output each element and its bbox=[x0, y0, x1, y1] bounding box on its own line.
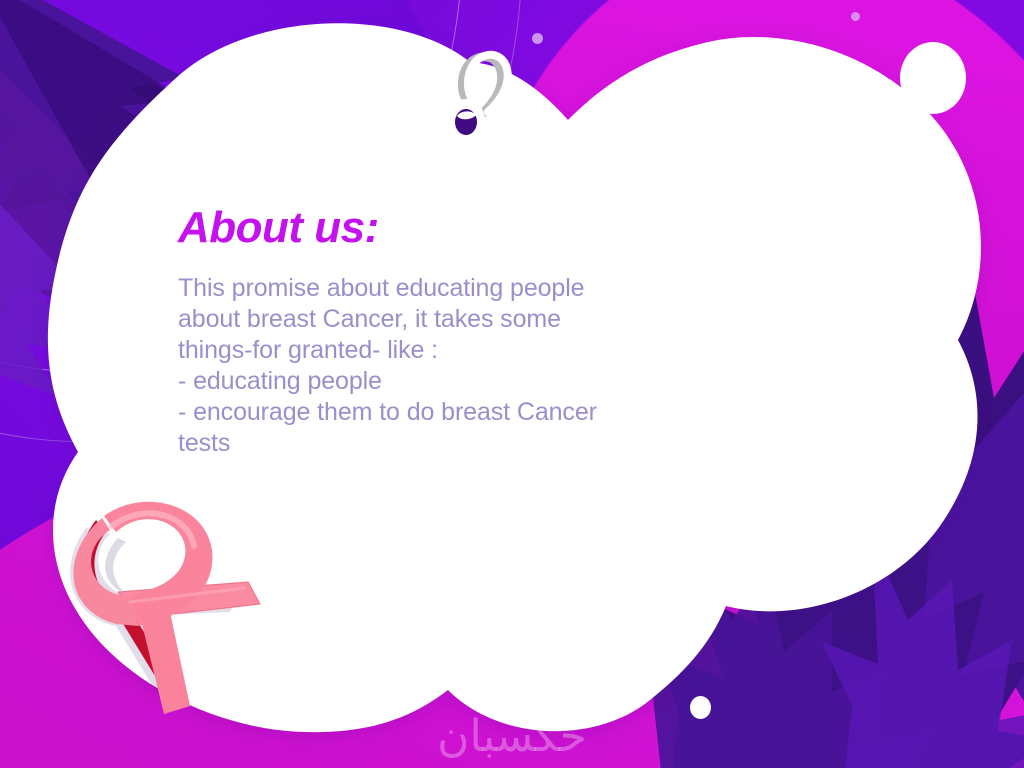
hanging-loop-icon bbox=[430, 36, 520, 136]
lilac-dot-decoration bbox=[532, 33, 543, 44]
slide-canvas: About us: This promise about educating p… bbox=[0, 0, 1024, 768]
text-content-block: About us: This promise about educating p… bbox=[178, 205, 718, 459]
white-circle-decoration bbox=[900, 42, 966, 114]
white-dot-decoration bbox=[690, 696, 711, 719]
slide-body-text: This promise about educating people abou… bbox=[178, 273, 718, 459]
lilac-dot-decoration bbox=[851, 12, 860, 21]
page-title: About us: bbox=[178, 205, 718, 251]
pink-awareness-ribbon-icon bbox=[34, 476, 274, 716]
